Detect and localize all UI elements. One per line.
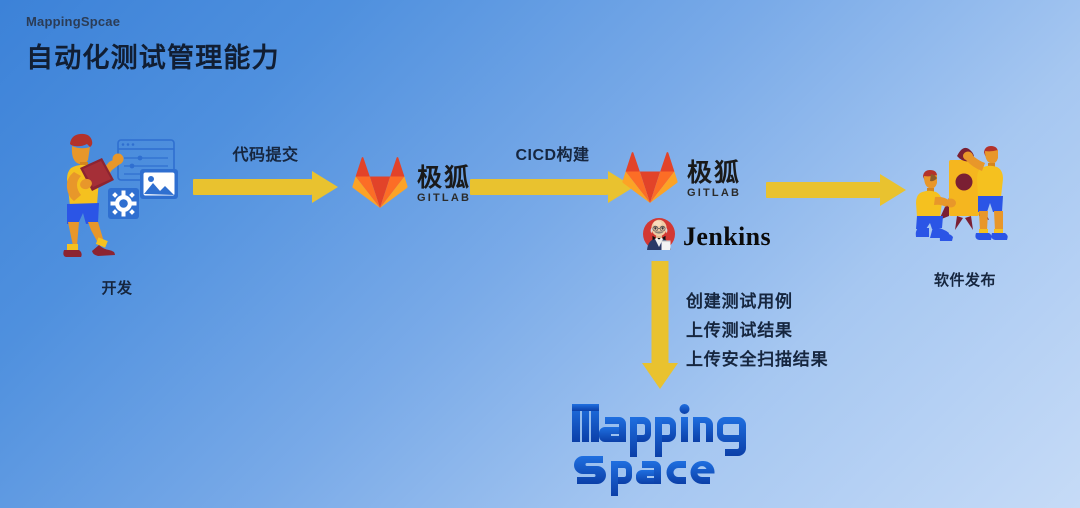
mappingspace-logo xyxy=(566,396,766,501)
rocket-launch-illustration xyxy=(905,138,1025,263)
flow-step: 创建测试用例 xyxy=(686,287,828,312)
arrow-cicd: CICD构建 xyxy=(470,171,635,203)
gitlab-en-label: GITLAB xyxy=(417,193,471,204)
arrow-head-icon xyxy=(312,171,338,203)
jenkins-label: Jenkins xyxy=(683,222,771,252)
arrow-cicd-label: CICD构建 xyxy=(515,141,589,165)
arrow-shaft xyxy=(193,179,312,195)
arrow-shaft xyxy=(652,261,669,363)
arrow-commit-label: 代码提交 xyxy=(232,141,298,165)
gitlab-fox-icon xyxy=(622,150,678,209)
gitlab-en-label: GITLAB xyxy=(687,188,741,199)
node-gitlab-jenkins: 极狐 GITLAB xyxy=(622,150,771,256)
gitlab-cn-label: 极狐 xyxy=(687,159,741,187)
arrow-head-icon xyxy=(880,174,906,206)
jenkins-butler-icon xyxy=(642,217,676,256)
arrow-shaft xyxy=(470,179,608,195)
gitlab-cn-label: 极狐 xyxy=(417,164,471,192)
flow-steps-list: 创建测试用例 上传测试结果 上传安全扫描结果 xyxy=(686,287,828,370)
arrow-head-icon xyxy=(642,363,678,389)
page-title: 自动化测试管理能力 xyxy=(26,36,280,75)
node-develop: 开发 xyxy=(52,126,182,298)
node-release: 软件发布 xyxy=(905,138,1025,290)
gitlab-fox-icon xyxy=(352,155,408,214)
flow-step: 上传测试结果 xyxy=(686,316,828,341)
node-develop-label: 开发 xyxy=(52,277,182,298)
arrow-commit: 代码提交 xyxy=(193,171,338,203)
developer-illustration xyxy=(52,126,182,271)
node-gitlab-1: 极狐 GITLAB xyxy=(352,155,471,214)
brand-tag: MappingSpcae xyxy=(26,14,120,29)
arrow-shaft xyxy=(766,182,880,198)
flow-step: 上传安全扫描结果 xyxy=(686,345,828,370)
node-release-label: 软件发布 xyxy=(905,269,1025,290)
node-jenkins: Jenkins xyxy=(642,217,771,256)
arrow-deploy xyxy=(766,174,906,206)
arrow-upload xyxy=(640,261,680,389)
